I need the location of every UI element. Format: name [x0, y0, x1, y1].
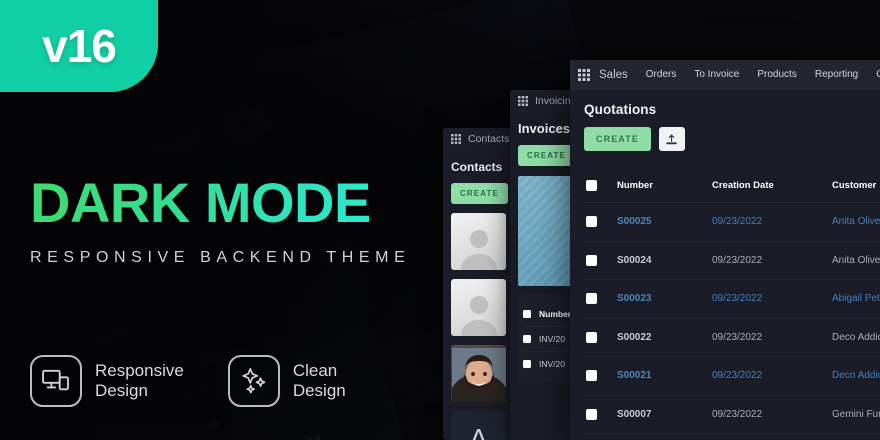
person-silhouette-icon	[459, 290, 499, 336]
cell-number: S00022	[617, 332, 712, 343]
cell-number: INV/20	[539, 359, 565, 369]
upload-import-icon	[241, 115, 258, 132]
menu-item-configuration[interactable]: Configuration	[867, 60, 880, 90]
apps-grid-icon[interactable]	[451, 134, 461, 144]
version-badge: v16	[0, 0, 158, 92]
sparkles-icon	[228, 355, 280, 407]
upload-import-icon	[665, 133, 678, 146]
column-header-number: Number	[539, 309, 571, 319]
feature-responsive-design: Responsive Design	[30, 355, 184, 407]
table-header-row: Number Creation Date Customer	[584, 169, 880, 203]
menu-item-reporting[interactable]: Reporting	[806, 60, 867, 90]
responsive-devices-icon	[30, 355, 82, 407]
cell-customer: Abigail Peterson	[832, 293, 880, 304]
column-header-number[interactable]: Number	[617, 180, 712, 191]
feature-label: Responsive Design	[95, 361, 184, 401]
contact-avatar-card[interactable]	[451, 345, 506, 402]
create-button[interactable]: CREATE	[584, 127, 651, 151]
feature-label-line1: Responsive	[95, 361, 184, 381]
cell-customer: Gemini Furniture	[832, 409, 880, 420]
row-checkbox[interactable]	[586, 332, 597, 343]
contact-avatar-card[interactable]	[451, 213, 506, 270]
table-row[interactable]: S00023 09/23/2022 Abigail Peterson	[584, 280, 880, 319]
cell-number: S00023	[617, 293, 712, 304]
sales-content: Quotations CREATE Number Creation Date C…	[570, 90, 880, 434]
row-checkbox[interactable]	[586, 409, 597, 420]
table-row[interactable]: S00022 09/23/2022 Deco Addict	[584, 319, 880, 358]
row-checkbox[interactable]	[586, 255, 597, 266]
quotations-table: Number Creation Date Customer S00025 09/…	[584, 169, 880, 434]
apps-grid-icon[interactable]	[578, 69, 590, 81]
person-silhouette-icon	[459, 224, 499, 270]
contacts-window-title: Contacts	[468, 133, 509, 145]
feature-label-line1: Clean	[293, 361, 346, 381]
feature-list: Responsive Design Clean Design	[30, 355, 346, 407]
contact-avatar-card[interactable]: A	[451, 411, 506, 440]
cell-date: 09/23/2022	[712, 332, 832, 343]
cell-customer: Anita Oliver	[832, 255, 880, 266]
table-row[interactable]: S00021 09/23/2022 Deco Addict	[584, 357, 880, 396]
cell-date: 09/23/2022	[712, 255, 832, 266]
cell-date: 09/23/2022	[712, 370, 832, 381]
cell-number: S00021	[617, 370, 712, 381]
cell-number: INV/20	[539, 334, 565, 344]
contacts-heading: Contacts	[451, 160, 517, 174]
cell-customer: Deco Addict	[832, 332, 880, 343]
menu-item-to-invoice[interactable]: To Invoice	[685, 60, 748, 90]
select-all-checkbox[interactable]	[586, 180, 597, 191]
row-checkbox[interactable]	[586, 293, 597, 304]
cell-customer: Anita Oliver	[832, 216, 880, 227]
row-checkbox[interactable]	[586, 216, 597, 227]
feature-clean-design: Clean Design	[228, 355, 346, 407]
feature-label-line2: Design	[95, 381, 184, 401]
cell-date: 09/23/2022	[712, 409, 832, 420]
column-header-creation-date[interactable]: Creation Date	[712, 180, 832, 191]
cell-date: 09/23/2022	[712, 293, 832, 304]
invoices-create-button[interactable]: CREATE	[518, 145, 575, 166]
menu-item-sales[interactable]: Sales	[592, 60, 637, 90]
promo-banner: Quotations Invoices Invoicing Contacts C…	[0, 0, 880, 440]
cell-date: 09/23/2022	[712, 216, 832, 227]
contact-avatar-card[interactable]	[451, 279, 506, 336]
sales-window: Sales Orders To Invoice Products Reporti…	[570, 60, 880, 440]
action-toolbar: CREATE	[584, 127, 880, 151]
page-title: DARK MODE	[30, 176, 410, 231]
column-header-customer[interactable]: Customer	[832, 180, 880, 191]
sales-menu-bar: Sales Orders To Invoice Products Reporti…	[570, 60, 880, 90]
page-subtitle: RESPONSIVE BACKEND THEME	[30, 249, 410, 267]
row-checkbox[interactable]	[523, 360, 531, 368]
table-row[interactable]: S00025 09/23/2022 Anita Oliver	[584, 203, 880, 242]
menu-item-products[interactable]: Products	[748, 60, 805, 90]
menu-item-orders[interactable]: Orders	[637, 60, 686, 90]
version-badge-label: v16	[42, 23, 116, 69]
row-checkbox[interactable]	[523, 335, 531, 343]
select-all-checkbox[interactable]	[523, 310, 531, 318]
table-row[interactable]: S00024 09/23/2022 Anita Oliver	[584, 242, 880, 281]
table-row[interactable]: S00007 09/23/2022 Gemini Furniture	[584, 396, 880, 435]
apps-grid-icon[interactable]	[518, 96, 528, 106]
hero-block: DARK MODE RESPONSIVE BACKEND THEME	[30, 176, 410, 267]
upload-import-button[interactable]	[659, 127, 685, 151]
contacts-create-button[interactable]: CREATE	[451, 183, 508, 204]
cell-number: S00025	[617, 216, 712, 227]
row-checkbox[interactable]	[586, 370, 597, 381]
feature-label-line2: Design	[293, 381, 346, 401]
page-title: Quotations	[584, 102, 880, 117]
feature-label: Clean Design	[293, 361, 346, 401]
cell-customer: Deco Addict	[832, 370, 880, 381]
person-photo-icon	[452, 348, 506, 402]
cell-number: S00024	[617, 255, 712, 266]
cell-number: S00007	[617, 409, 712, 420]
